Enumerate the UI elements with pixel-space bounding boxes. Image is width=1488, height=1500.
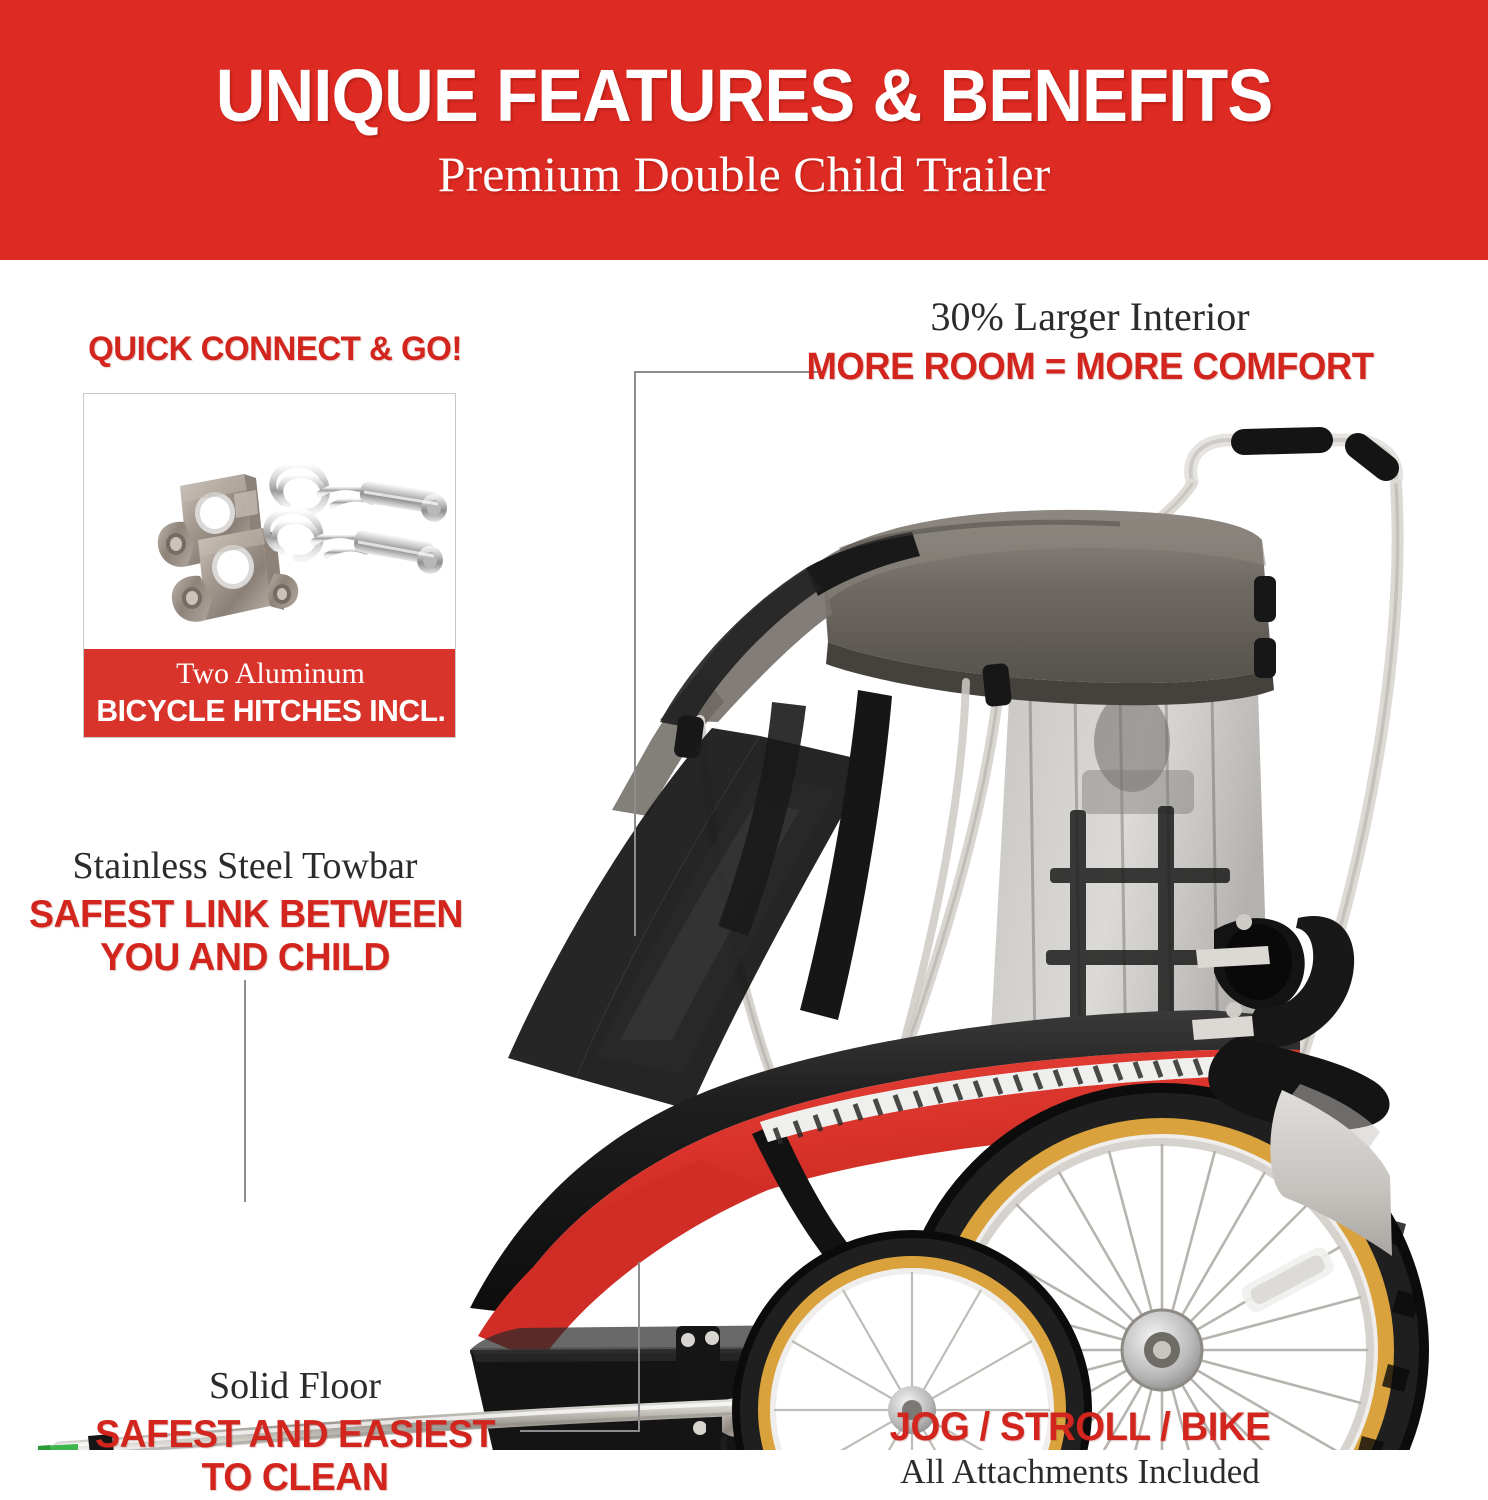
callout-modes-line2: All Attachments Included <box>840 1452 1320 1491</box>
callout-towbar: Stainless Steel Towbar SAFEST LINK BETWE… <box>20 845 470 980</box>
hitch-photo <box>84 394 456 654</box>
callout-towbar-line3: YOU AND CHILD <box>29 936 461 980</box>
callout-modes-line1: JOG / STROLL / BIKE <box>850 1405 1311 1450</box>
header-banner: UNIQUE FEATURES & BENEFITS Premium Doubl… <box>0 0 1488 260</box>
callout-interior: 30% Larger Interior MORE ROOM = MORE COM… <box>790 295 1390 388</box>
page-subtitle: Premium Double Child Trailer <box>438 147 1051 202</box>
infographic-page: UNIQUE FEATURES & BENEFITS Premium Doubl… <box>0 0 1488 1500</box>
leader-line-towbar <box>244 980 246 1202</box>
hitch-caption-line2: BICYCLE HITCHES INCL. <box>96 693 445 729</box>
leader-line-floor-vertical <box>638 1262 640 1432</box>
callout-interior-line2: MORE ROOM = MORE COMFORT <box>802 346 1378 389</box>
hitch-caption-banner: Two Aluminum BICYCLE HITCHES INCL. <box>84 649 456 737</box>
hitch-callout-heading: QUICK CONNECT & GO! <box>86 330 464 369</box>
callout-modes: JOG / STROLL / BIKE All Attachments Incl… <box>840 1405 1320 1491</box>
leader-line-floor-horizontal <box>520 1430 640 1432</box>
callout-floor-line2: SAFEST AND EASIEST <box>79 1413 511 1457</box>
hitch-product-box: Two Aluminum BICYCLE HITCHES INCL. <box>83 393 456 738</box>
callout-floor: Solid Floor SAFEST AND EASIEST TO CLEAN <box>70 1365 520 1500</box>
callout-towbar-line2: SAFEST LINK BETWEEN <box>29 893 461 937</box>
callout-towbar-line1: Stainless Steel Towbar <box>20 845 470 888</box>
callout-floor-line1: Solid Floor <box>70 1365 520 1408</box>
leader-line-interior-vertical <box>634 371 636 936</box>
hitch-caption-line1: Two Aluminum <box>176 659 365 689</box>
callout-floor-line3: TO CLEAN <box>79 1456 511 1500</box>
callout-interior-line1: 30% Larger Interior <box>790 295 1390 340</box>
page-title: UNIQUE FEATURES & BENEFITS <box>216 59 1273 133</box>
